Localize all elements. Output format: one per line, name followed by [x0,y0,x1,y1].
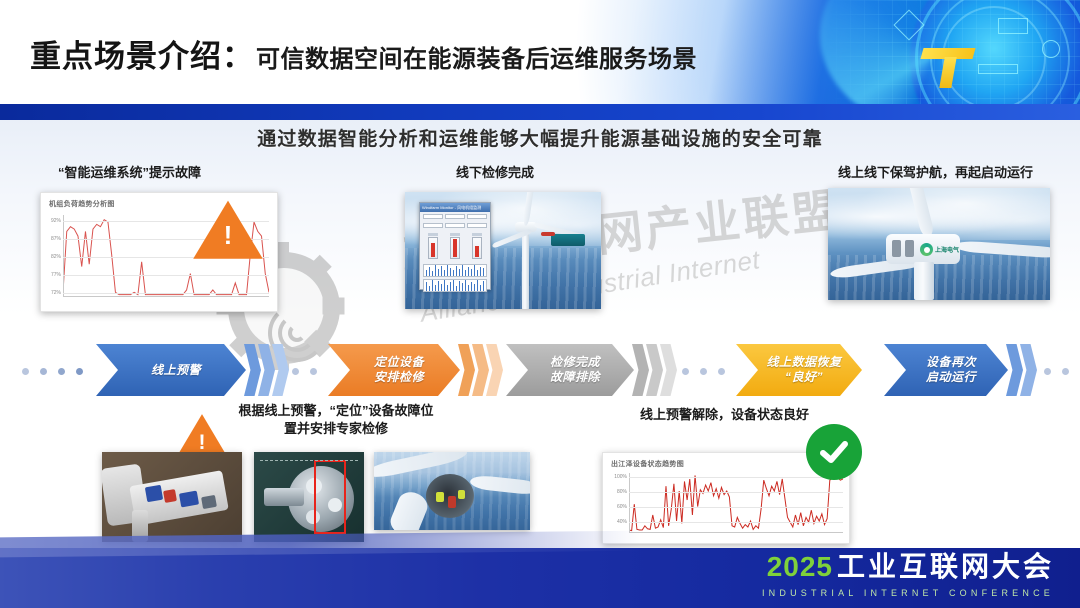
success-check-icon [806,424,862,480]
page-title-main: 重点场景介绍： [30,31,254,76]
subtitle-banner-text: 通过数据智能分析和运维能够大幅提升能源基础设施的安全可靠 [257,124,823,151]
header-t-logo-icon [922,48,974,88]
sky-clouds-right [828,188,1050,240]
dialog-titlebar[interactable]: Windfarm Monitor - 风电机组监测 [420,203,490,212]
cutaway-component-red [163,489,177,503]
flow-dot [40,368,47,375]
gauge-1 [428,233,438,259]
caption-top-right: 线上线下保驾护航，再起启动运行 [838,162,1033,181]
recovery-chart-ytick-3: 40% [617,519,627,525]
nacelle-cutaway-photo [102,452,242,542]
brand-circle-icon [920,243,933,256]
caption-bottom-left: 根据线上预警，“定位”设备故障位 置并安排专家检修 [196,402,476,438]
technician-2 [448,496,456,508]
caption-top-left: “智能运维系统”提示故障 [58,162,201,181]
gearbox-shaft [264,488,304,506]
alert-chart-ytick-0: 92% [51,218,61,224]
flow-barb [632,344,649,396]
nacelle-tower [914,262,934,300]
flow-step-1[interactable]: 线上预警 [96,344,246,396]
recovery-chart-ytick-0: 100% [614,474,627,480]
recovery-chart-plot: 100% 80% 60% 40% [629,473,843,533]
flow-dot [700,368,707,375]
flow-step-1-label: 线上预警 [141,363,201,378]
vessel-crane [541,232,555,236]
monitoring-dialog[interactable]: Windfarm Monitor - 风电机组监测 [419,202,491,290]
nacelle-vent-1 [892,240,901,257]
turbine-tower [522,228,529,309]
gearbox-guide-line [260,460,358,461]
warning-exclamation: ! [224,222,233,248]
flow-dot [292,368,299,375]
gauge-2 [450,233,460,259]
nacelle-vent-2 [905,240,914,257]
process-flow: 线上预警 定位设备 安排检修 检修完成 故障排除 线上数据恢复 “良好” [0,344,1080,396]
recovery-chart-ytick-1: 80% [617,489,627,495]
flow-barb [244,344,261,396]
alert-chart-ytick-2: 82% [51,254,61,260]
warning-triangle-icon: ! [191,198,265,264]
technician-1 [436,492,444,502]
dialog-gauges [420,230,490,262]
hub-maintenance-photo [374,452,530,530]
alert-chart-ytick-4: 72% [51,290,61,296]
page-title-sub: 可信数据空间在能源装备后运维服务场景 [256,39,697,74]
dialog-waveform-2 [423,279,487,292]
gauge-3 [472,233,482,259]
conference-name-cn: 工业互联网大会 [837,545,1054,585]
fault-highlight-box [314,460,346,534]
flow-barb [860,344,877,396]
flow-dot [310,368,317,375]
flow-step-3-label: 检修完成 故障排除 [540,355,600,385]
header-underline [0,104,1080,120]
recovery-chart-title: 出江泽设备状态趋势图 [611,459,684,469]
dialog-field-row-2[interactable] [420,221,490,230]
flow-barb [458,344,475,396]
flow-step-2[interactable]: 定位设备 安排检修 [328,344,460,396]
service-vessel [551,234,585,246]
header-chip-icon-2 [1042,40,1060,58]
flow-step-3[interactable]: 检修完成 故障排除 [506,344,634,396]
brand-logo-text: 上海电气 [935,245,959,254]
conference-year: 2025 [767,551,833,583]
gearbox-inspection-photo [254,452,364,542]
header-tech-graphic [780,0,1080,104]
technician-3 [458,490,465,499]
flow-dot [718,368,725,375]
cutaway-component-blue-1 [145,485,163,503]
flow-step-5[interactable]: 设备再次 启动运行 [884,344,1008,396]
slide-root: 重点场景介绍： 可信数据空间在能源装备后运维服务场景 通过数据智能分析和运维能够… [0,0,1080,608]
header-chip-icon-1 [998,18,1028,34]
conference-name-en: INDUSTRIAL INTERNET CONFERENCE [762,588,1054,598]
dialog-field-row-1[interactable] [420,212,490,221]
flow-step-5-label: 设备再次 启动运行 [916,355,976,385]
caption-bottom-right: 线上预警解除，设备状态良好 [640,404,809,423]
cutaway-component-gray [201,495,217,509]
caption-bottom-left-line2: 置并安排专家检修 [196,420,476,438]
flow-dot [76,368,83,375]
caption-top-mid: 线下检修完成 [456,162,534,181]
offshore-maintenance-photo: Windfarm Monitor - 风电机组监测 [405,192,601,309]
flow-step-2-label: 定位设备 安排检修 [364,355,424,385]
header-chip-icon-3 [978,64,1018,74]
caption-bottom-left-line1: 根据线上预警，“定位”设备故障位 [196,402,476,420]
recovery-chart-ytick-2: 60% [617,504,627,510]
conference-logo: 2025 工业互联网大会 INDUSTRIAL INTERNET CONFERE… [762,545,1054,598]
flow-dot [682,368,689,375]
dialog-waveform-1 [423,264,487,277]
alert-chart-ytick-1: 87% [51,236,61,242]
alert-chart-title: 机组负荷趋势分析图 [49,199,115,209]
turbine-nacelle-photo: 上海电气 [828,188,1050,300]
dialog-title-text: Windfarm Monitor - 风电机组监测 [422,205,481,211]
alert-chart-ytick-3: 77% [51,272,61,278]
flow-dot [1062,368,1069,375]
recovery-chart-line [629,473,843,533]
flow-dot [1044,368,1051,375]
flow-step-4[interactable]: 线上数据恢复 “良好” [736,344,862,396]
slide-header: 重点场景介绍： 可信数据空间在能源装备后运维服务场景 [0,0,1080,104]
nacelle-brand-logo: 上海电气 [920,243,959,256]
warning-exclamation-2: ! [199,432,206,453]
flow-barb [1006,344,1023,396]
flow-dot [22,368,29,375]
subtitle-banner: 通过数据智能分析和运维能够大幅提升能源基础设施的安全可靠 [0,120,1080,154]
page-title: 重点场景介绍： 可信数据空间在能源装备后运维服务场景 [30,31,697,76]
flow-dot [58,368,65,375]
flow-step-4-label: 线上数据恢复 “良好” [756,355,841,385]
